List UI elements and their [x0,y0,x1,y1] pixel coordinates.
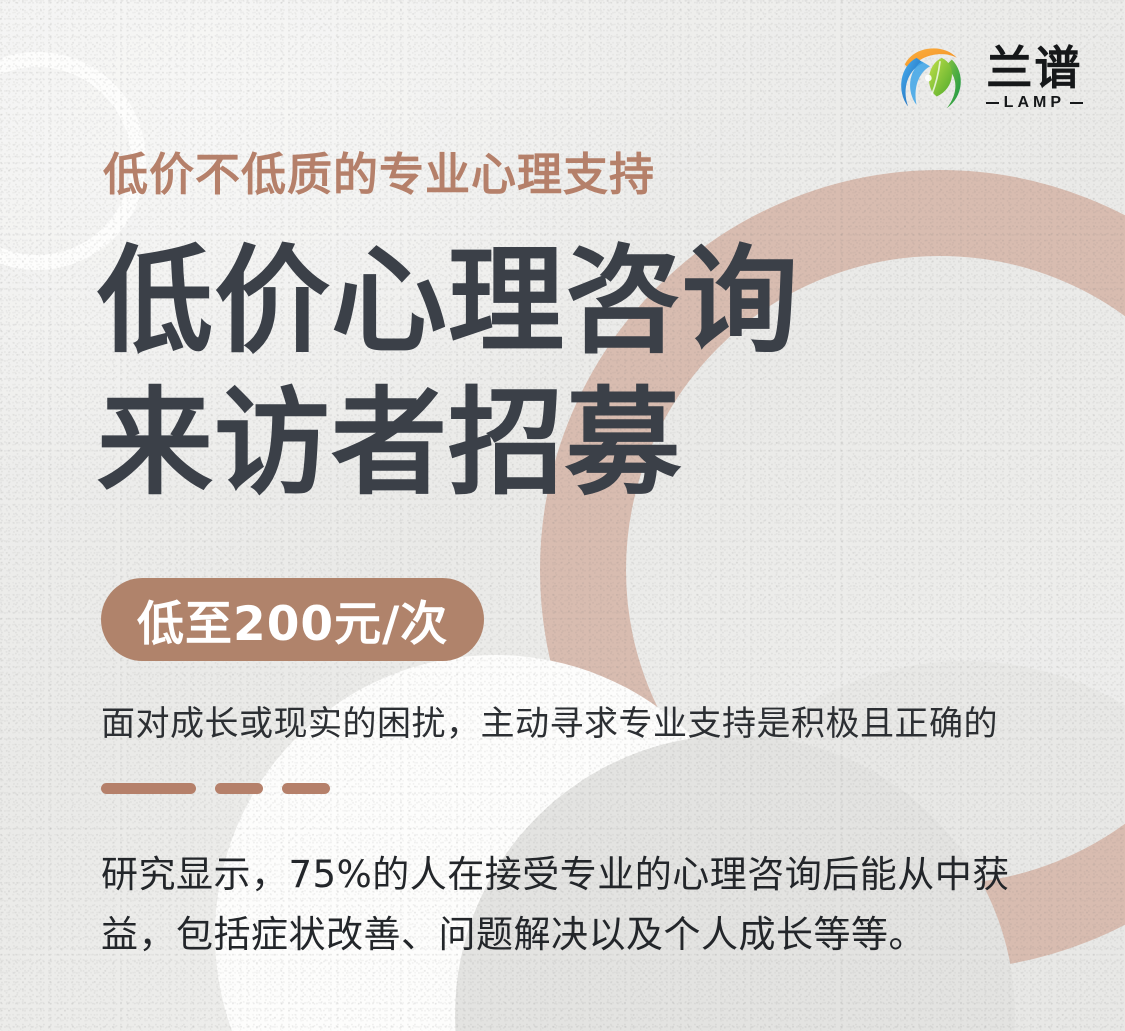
divider-dash-3 [282,783,330,794]
body-paragraph: 研究显示，75%的人在接受专业的心理咨询后能从中获 益，包括症状改善、问题解决以… [101,845,1041,965]
title-line-1: 低价心理咨询 [97,228,799,376]
divider-dashes [101,783,330,794]
eyebrow-text: 低价不低质的专业心理支持 [103,148,655,202]
price-badge: 低至200元/次 [101,578,484,661]
body-paragraph-line-1: 研究显示，75%的人在接受专业的心理咨询后能从中获 [101,845,1041,905]
page-title: 低价心理咨询 来访者招募 [97,228,799,519]
lede-text: 面对成长或现实的困扰，主动寻求专业支持是积极且正确的 [101,702,998,746]
title-line-2-wrap: 来访者招募 [97,370,799,518]
poster-canvas: 兰谱 LAMP 低价不低质的专业心理支持 低价心理咨询 来访者招募 低至200元… [0,0,1125,1031]
title-line-2: 来访者招募 [97,376,682,511]
divider-dash-1 [101,783,196,794]
body-paragraph-line-2: 益，包括症状改善、问题解决以及个人成长等等。 [101,905,1041,965]
divider-dash-2 [215,783,263,794]
poster-content: 低价不低质的专业心理支持 低价心理咨询 来访者招募 低至200元/次 面对成长或… [0,0,1125,1031]
